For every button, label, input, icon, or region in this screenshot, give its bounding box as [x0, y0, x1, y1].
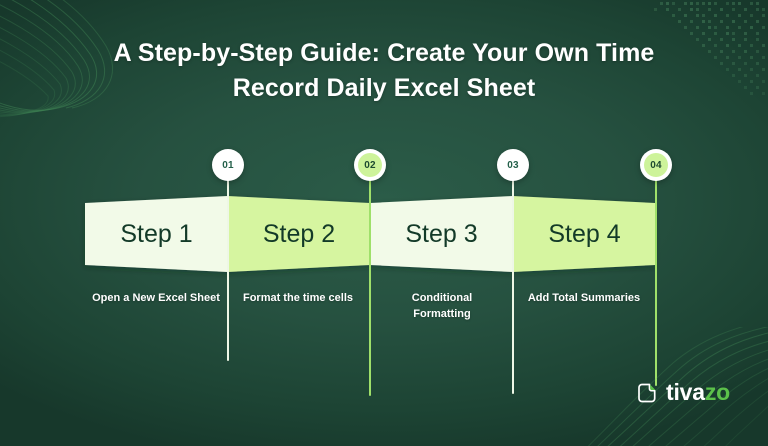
step-caption-3: Conditional Formatting: [390, 291, 494, 322]
step-caption-4: Add Total Summaries: [516, 291, 652, 307]
logo-text-primary: tiva: [666, 379, 705, 405]
step-number-text-4: 04: [650, 160, 662, 171]
step-label-4: Step 4: [513, 218, 656, 250]
tivazo-mark-icon: [636, 382, 658, 404]
step-label-1: Step 1: [85, 218, 228, 250]
step-connector-line-1: [227, 165, 229, 361]
step-number-badge-2[interactable]: 02: [354, 149, 386, 181]
step-number-text-2: 02: [364, 160, 376, 171]
step-caption-2: Format the time cells: [232, 291, 364, 307]
logo-text-accent: zo: [705, 379, 730, 405]
step-label-2: Step 2: [228, 218, 370, 250]
step-connector-line-2: [369, 165, 371, 396]
step-number-badge-3[interactable]: 03: [497, 149, 529, 181]
step-marker-3[interactable]: 03: [497, 149, 529, 181]
step-caption-1: Open a New Excel Sheet: [92, 291, 220, 307]
step-number-text-3: 03: [507, 160, 519, 171]
step-marker-4[interactable]: 04: [640, 149, 672, 181]
step-connector-line-4: [655, 165, 657, 386]
step-marker-1[interactable]: 01: [212, 149, 244, 181]
tivazo-wordmark: tivazo: [666, 381, 730, 404]
step-connector-line-3: [512, 165, 514, 394]
infographic-canvas: A Step-by-Step Guide: Create Your Own Ti…: [0, 0, 768, 446]
step-number-badge-1[interactable]: 01: [212, 149, 244, 181]
step-number-text-1: 01: [222, 160, 234, 171]
step-label-3: Step 3: [370, 218, 513, 250]
tivazo-logo[interactable]: tivazo: [636, 381, 730, 404]
step-marker-2[interactable]: 02: [354, 149, 386, 181]
step-number-badge-4[interactable]: 04: [640, 149, 672, 181]
